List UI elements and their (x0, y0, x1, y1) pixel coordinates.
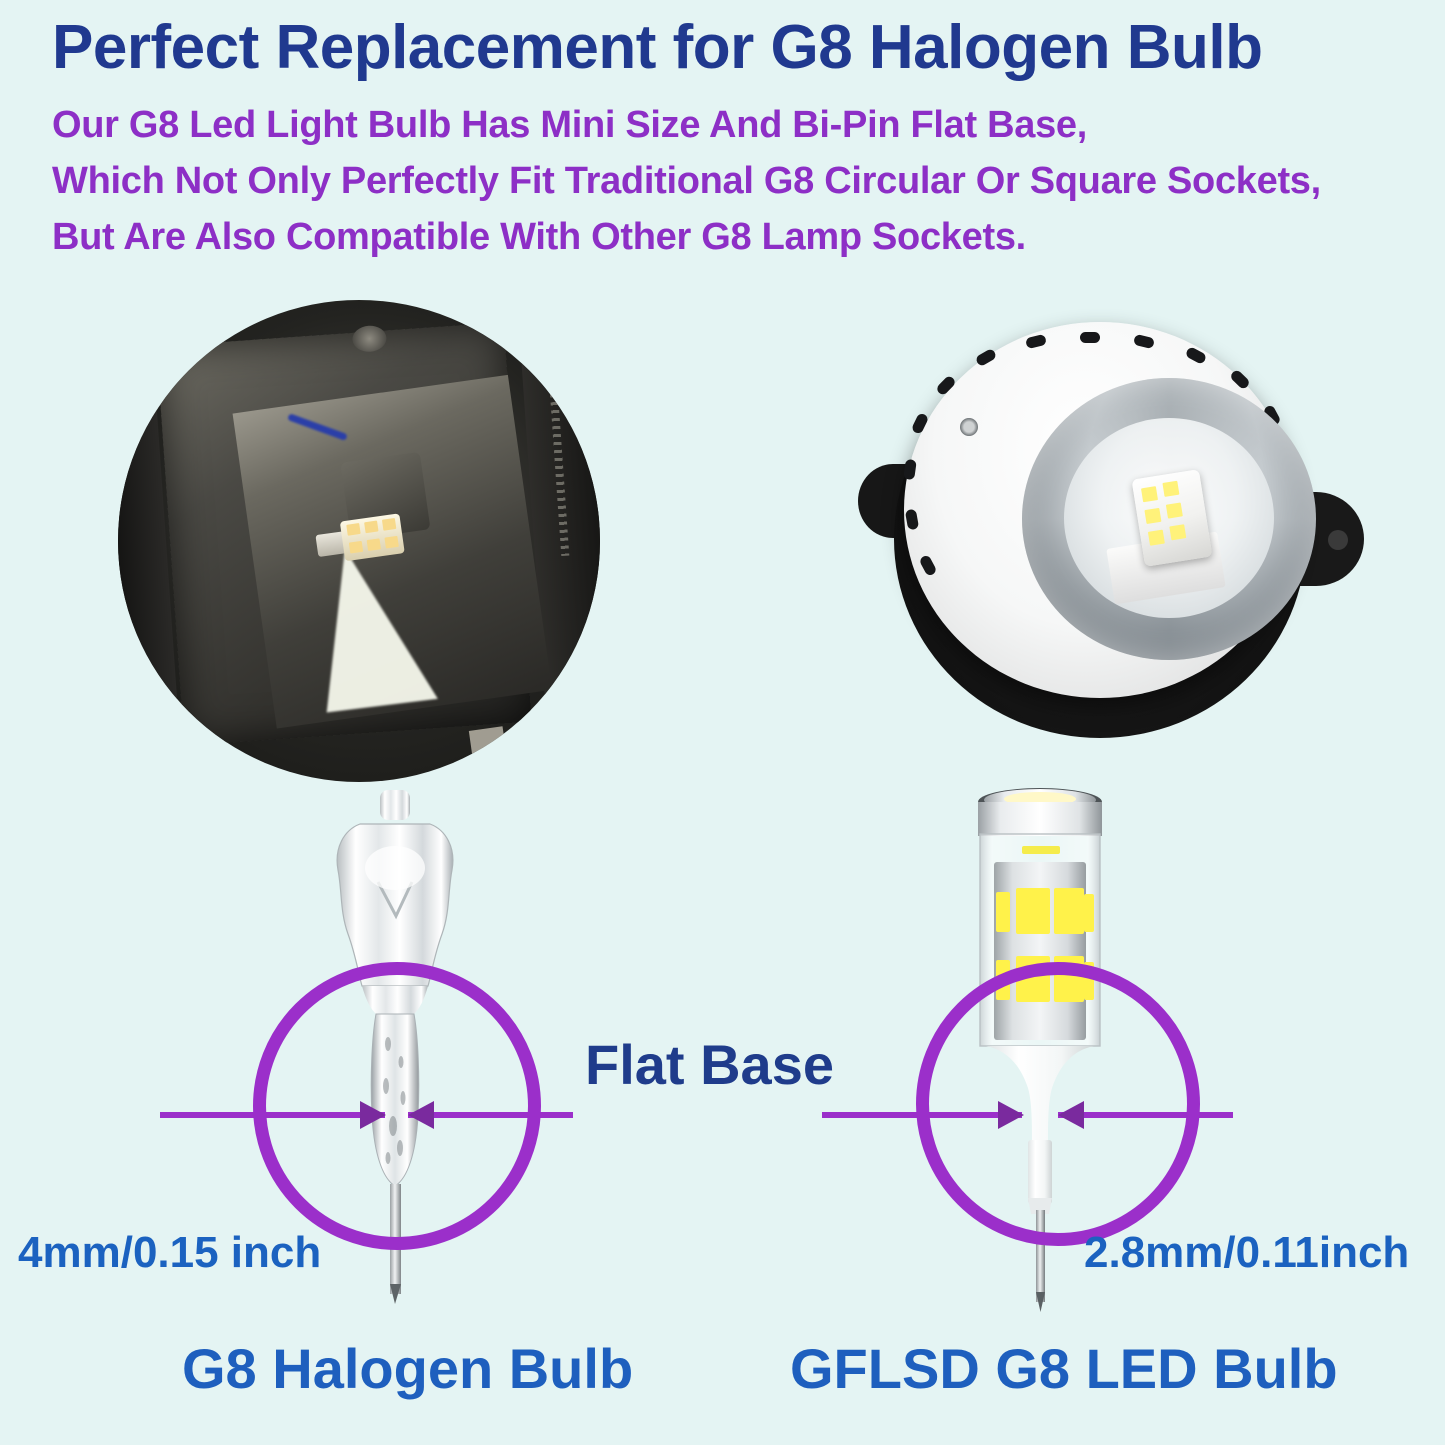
led-base-highlight-ring (916, 962, 1200, 1246)
fixture-screw-icon (352, 325, 388, 353)
vent-slot (903, 459, 917, 480)
round-puck-light-fixture-photo (838, 296, 1398, 776)
led-dimension-label: 2.8mm/0.11inch (1084, 1228, 1409, 1278)
vent-slot (1025, 334, 1047, 350)
led-chip-icon (1141, 486, 1158, 502)
halogen-dimension-label: 4mm/0.15 inch (18, 1228, 321, 1278)
vent-slot (1080, 332, 1100, 343)
subtitle-line-2: Which Not Only Perfectly Fit Traditional… (52, 162, 1442, 200)
led-chip-icon (1166, 502, 1183, 518)
led-chip-icon (364, 521, 378, 534)
vent-slot (1185, 346, 1208, 365)
infographic-canvas: Perfect Replacement for G8 Halogen Bulb … (0, 0, 1445, 1445)
vent-slot (1229, 369, 1251, 391)
led-chip-icon (1162, 481, 1179, 497)
flat-base-callout-label: Flat Base (585, 1032, 834, 1097)
fixture-sticker (469, 726, 508, 766)
led-chip-icon (1148, 530, 1165, 546)
vent-slot (918, 554, 937, 577)
halogen-base-highlight-ring (253, 962, 541, 1250)
housing-screw-icon (960, 418, 978, 436)
led-chip-icon (382, 518, 396, 531)
light-beam-cone (307, 540, 438, 712)
bulb-body (340, 513, 405, 561)
vent-slot (1133, 334, 1155, 350)
led-chip-icon (1144, 508, 1161, 524)
led-chip-icon (346, 523, 360, 536)
vent-slot (905, 509, 919, 531)
vent-slot (935, 374, 957, 396)
led-chip-icon (1169, 524, 1186, 540)
subtitle-line-3: But Are Also Compatible With Other G8 La… (52, 218, 1442, 256)
led-chip-icon (349, 541, 363, 554)
subtitle-line-1: Our G8 Led Light Bulb Has Mini Size And … (52, 106, 1442, 144)
led-product-name: GFLSD G8 LED Bulb (790, 1336, 1338, 1401)
led-chip-icon (367, 538, 381, 551)
installed-g8-led-bulb (1132, 469, 1213, 567)
vent-slot (975, 348, 998, 368)
fixture-frame (156, 322, 531, 745)
fixture-white-housing (904, 322, 1296, 698)
page-title: Perfect Replacement for G8 Halogen Bulb (52, 16, 1412, 79)
led-chip-icon (384, 536, 398, 549)
halogen-product-name: G8 Halogen Bulb (182, 1336, 633, 1401)
vent-slot (911, 412, 930, 435)
led-bulb-in-dark-fixture-photo (118, 300, 600, 782)
